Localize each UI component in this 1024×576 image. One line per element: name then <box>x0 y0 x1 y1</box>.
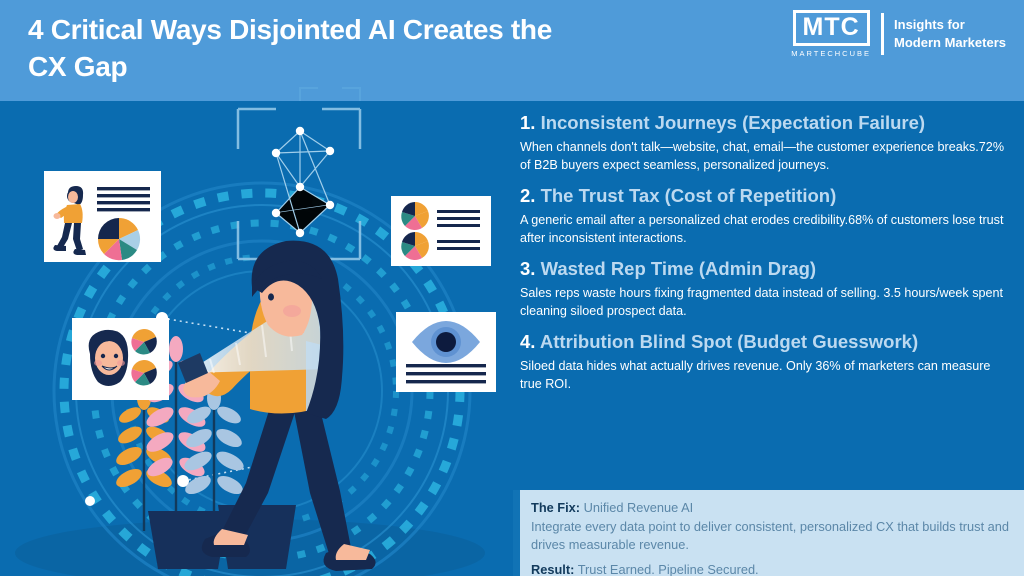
point-number-4: 4. <box>520 331 535 352</box>
point-title-1: Inconsistent Journeys (Expectation Failu… <box>541 112 925 133</box>
page-title: 4 Critical Ways Disjointed AI Creates th… <box>28 12 588 86</box>
fix-value: Unified Revenue AI <box>584 500 694 515</box>
logo-tagline: Insights for Modern Marketers <box>894 16 1006 51</box>
point-heading-4: 4. Attribution Blind Spot (Budget Guessw… <box>520 331 1012 353</box>
result-line: Result: Trust Earned. Pipeline Secured. <box>531 561 1024 576</box>
list-item-4: 4. Attribution Blind Spot (Budget Guessw… <box>520 331 1012 394</box>
header-bar: 4 Critical Ways Disjointed AI Creates th… <box>0 0 1024 101</box>
point-heading-2: 2. The Trust Tax (Cost of Repetition) <box>520 185 1012 207</box>
fix-headline: The Fix: Unified Revenue AI <box>531 499 1024 518</box>
illustration <box>0 101 512 576</box>
point-body-3: Sales reps waste hours fixing fragmented… <box>520 285 1012 321</box>
pie-chart-card3-b <box>131 360 156 386</box>
pie-chart-card3-a <box>131 329 156 355</box>
fix-callout-box: The Fix: Unified Revenue AI Integrate ev… <box>513 490 1024 576</box>
card-walking-woman <box>44 171 161 262</box>
list-item-1: 1. Inconsistent Journeys (Expectation Fa… <box>520 112 1012 175</box>
fix-label: The Fix: <box>531 500 580 515</box>
point-heading-3: 3. Wasted Rep Time (Admin Drag) <box>520 258 1012 280</box>
point-number-1: 1. <box>520 112 535 133</box>
points-list: 1. Inconsistent Journeys (Expectation Fa… <box>520 112 1012 404</box>
result-value: Trust Earned. Pipeline Secured. <box>578 562 759 576</box>
pie-chart-card1 <box>98 218 140 260</box>
fix-body: Integrate every data point to deliver co… <box>531 518 1024 555</box>
card-two-pies <box>391 196 491 266</box>
point-heading-1: 1. Inconsistent Journeys (Expectation Fa… <box>520 112 1012 134</box>
point-body-1: When channels don't talk—website, chat, … <box>520 139 1012 175</box>
card-portrait <box>72 318 169 400</box>
list-item-3: 3. Wasted Rep Time (Admin Drag) Sales re… <box>520 258 1012 321</box>
logo-tagline-line1: Insights for <box>894 16 1006 33</box>
list-item-2: 2. The Trust Tax (Cost of Repetition) A … <box>520 185 1012 248</box>
point-title-3: Wasted Rep Time (Admin Drag) <box>541 258 816 279</box>
logo-tagline-line2: Modern Marketers <box>894 34 1006 51</box>
point-body-2: A generic email after a personalized cha… <box>520 212 1012 248</box>
result-label: Result: <box>531 562 574 576</box>
point-number-2: 2. <box>520 185 535 206</box>
connector-node-6 <box>85 496 95 506</box>
point-title-2: The Trust Tax (Cost of Repetition) <box>541 185 837 206</box>
point-number-3: 3. <box>520 258 535 279</box>
logo-wordmark: MARTECHCUBE <box>791 49 871 58</box>
logo-divider <box>881 13 884 55</box>
point-title-4: Attribution Blind Spot (Budget Guesswork… <box>540 331 918 352</box>
infographic-page: 4 Critical Ways Disjointed AI Creates th… <box>0 0 1024 576</box>
logo-mark-group: MTC MARTECHCUBE <box>791 10 871 58</box>
point-body-4: Siloed data hides what actually drives r… <box>520 358 1012 394</box>
card-eye <box>396 312 496 392</box>
brand-logo[interactable]: MTC MARTECHCUBE Insights for Modern Mark… <box>791 10 1006 58</box>
logo-mtc-mark: MTC <box>793 10 870 46</box>
illustration-svg <box>0 101 512 576</box>
